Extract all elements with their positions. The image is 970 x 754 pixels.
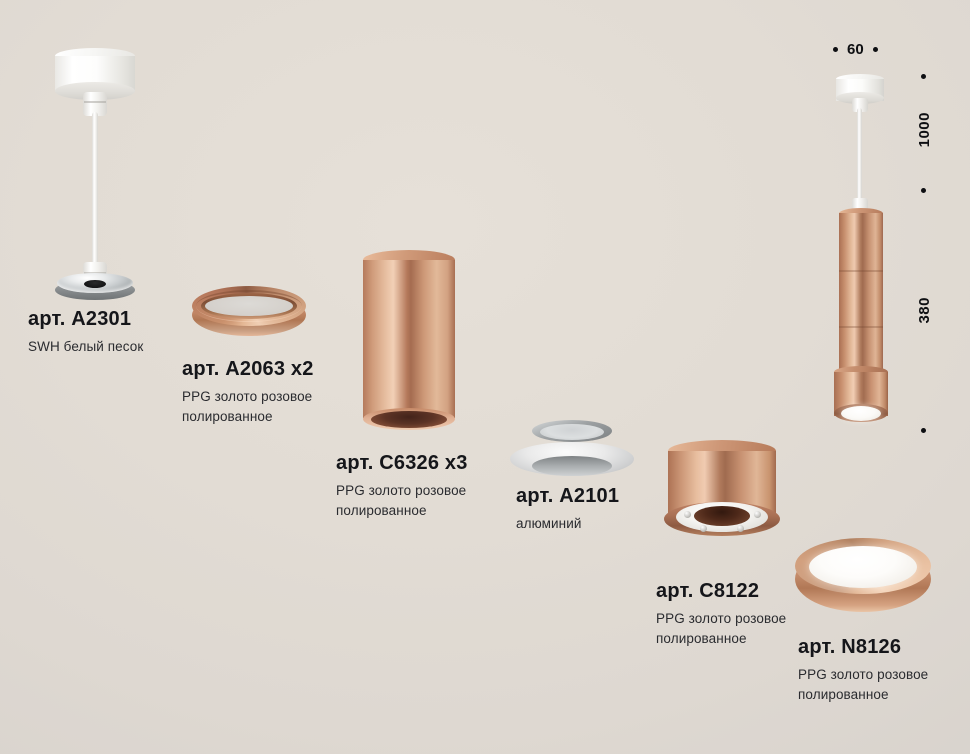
dimension-dot-icon: [833, 47, 838, 52]
part-a2101-aluminium-threaded-ring: [510, 420, 634, 482]
assembly-tube-body: [839, 213, 883, 377]
finish-text-a2101: алюминий: [516, 514, 619, 534]
dimension-dot-icon: [873, 47, 878, 52]
part-c6326-rose-gold-cylinder: [363, 250, 455, 432]
dimension-dot-icon: [921, 74, 926, 79]
part-c8122-rose-gold-short-cylinder: [664, 440, 780, 552]
dimension-dot-icon: [921, 428, 926, 433]
mounting-screw-icon: [684, 511, 691, 518]
assembled-pendant-lamp: [828, 74, 904, 426]
label-a2301: арт. A2301 SWH белый песок: [28, 308, 143, 357]
finish-text-a2301: SWH белый песок: [28, 337, 143, 357]
article-code-n8126: арт. N8126: [798, 636, 928, 658]
dimension-width-value: 60: [847, 41, 864, 58]
ring-bore: [205, 296, 293, 316]
article-code-a2063: арт. A2063 x2: [182, 358, 314, 380]
suspension-cord: [92, 112, 98, 270]
article-code-c8122: арт. C8122: [656, 580, 786, 602]
label-a2063: арт. A2063 x2 PPG золото розовое полиров…: [182, 358, 314, 426]
assembly-tube-seam: [839, 270, 883, 272]
assembly-cord: [857, 108, 862, 206]
cylinder-inner-opening: [371, 411, 447, 428]
threaded-bottom-ellipse: [532, 456, 612, 476]
dimension-dot-icon: [921, 188, 926, 193]
label-a2101: арт. A2101 алюминий: [516, 485, 619, 534]
finish-text-c8122: PPG золото розовое полированное: [656, 609, 786, 648]
threaded-bore: [540, 424, 604, 440]
cylinder-body: [363, 260, 455, 418]
article-code-c6326: арт. C6326 x3: [336, 452, 468, 474]
assembly-tube-seam: [839, 326, 883, 328]
product-diagram-canvas: арт. A2301 SWH белый песок арт. A2063 x2…: [0, 0, 970, 754]
label-c8122: арт. C8122 PPG золото розовое полированн…: [656, 580, 786, 648]
part-n8126-rose-gold-diffuser: [795, 538, 931, 622]
article-code-a2301: арт. A2301: [28, 308, 143, 330]
diffuser-lens: [809, 546, 917, 588]
label-n8126: арт. N8126 PPG золото розовое полированн…: [798, 636, 928, 704]
finish-text-n8126: PPG золото розовое полированное: [798, 665, 928, 704]
assembly-light-lens: [841, 406, 881, 421]
mounting-screw-icon: [737, 525, 744, 532]
part-a2301-white-suspension-kit: [52, 48, 144, 286]
mounting-screw-icon: [754, 511, 761, 518]
chrome-disc-center-hole: [84, 280, 106, 288]
dimension-height-380: 380: [916, 297, 933, 324]
part-a2063-rose-gold-ring: [192, 284, 306, 340]
label-c6326: арт. C6326 x3 PPG золото розовое полиров…: [336, 452, 468, 520]
mounting-screw-icon: [700, 525, 707, 532]
finish-text-a2063: PPG золото розовое полированное: [182, 387, 314, 426]
dimension-width-60: 60: [833, 41, 878, 58]
finish-text-c6326: PPG золото розовое полированное: [336, 481, 468, 520]
mounting-plate-center-hole: [694, 506, 750, 526]
dimension-drop-1000: 1000: [916, 112, 933, 147]
article-code-a2101: арт. A2101: [516, 485, 619, 507]
